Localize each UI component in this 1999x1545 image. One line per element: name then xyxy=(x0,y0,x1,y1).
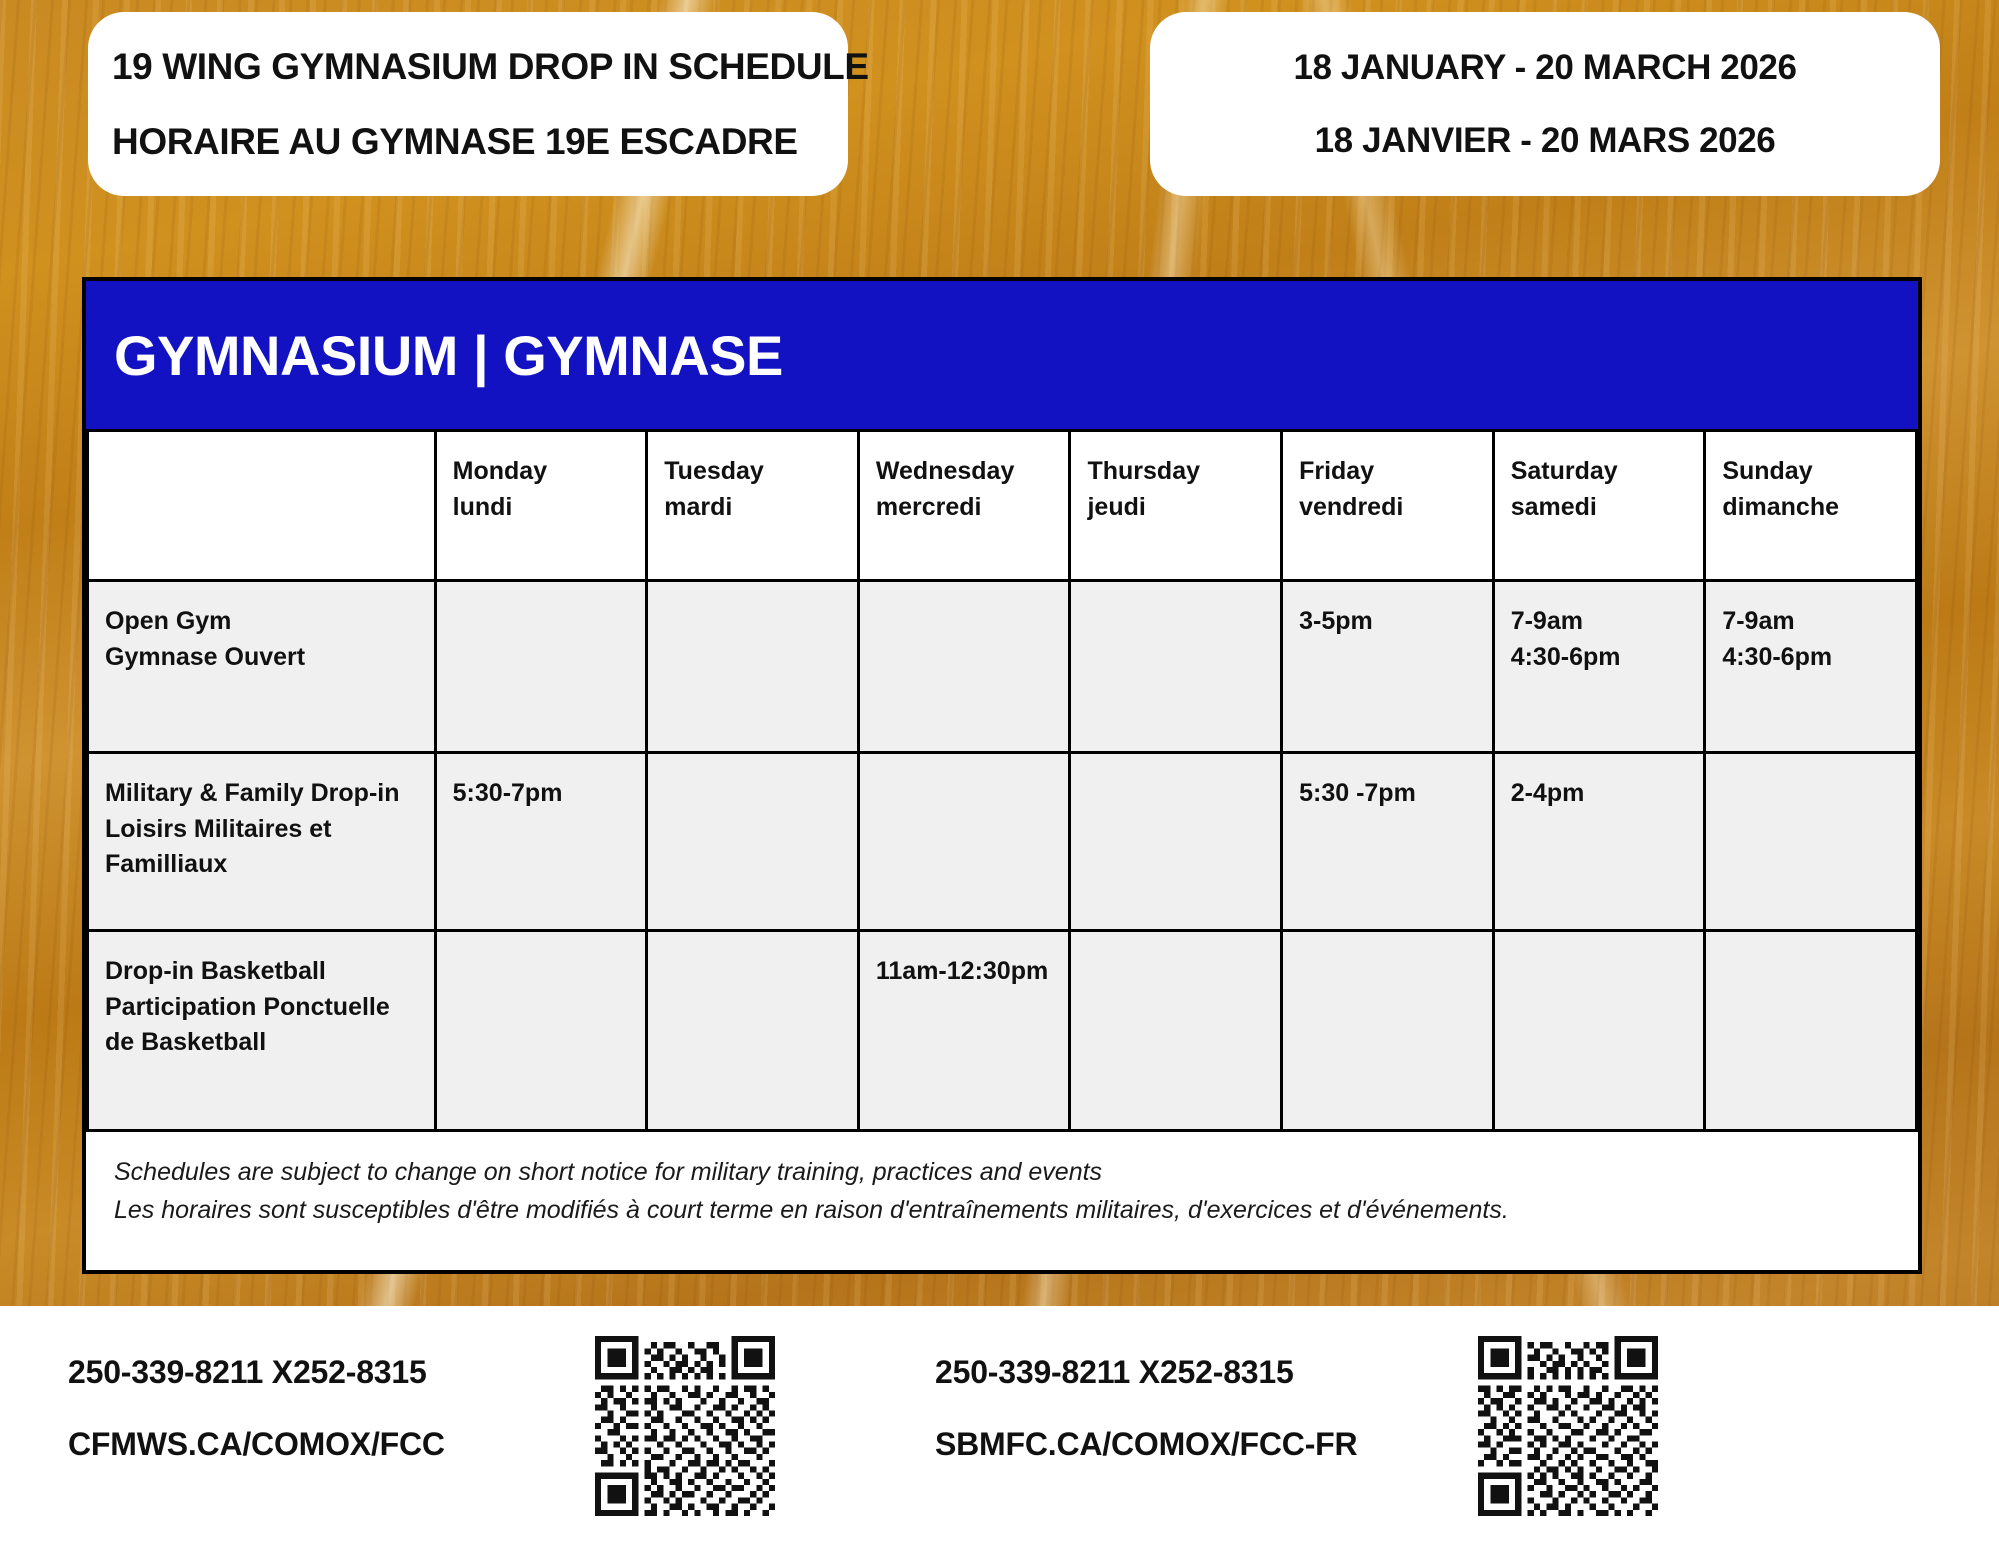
header-tuesday: Tuesday mardi xyxy=(647,431,859,581)
schedule-card: GYMNASIUM | GYMNASE Monday lundi Tuesday xyxy=(82,277,1922,1274)
cell-open-gym-saturday: 7-9am 4:30-6pm xyxy=(1493,581,1705,753)
activity-basketball-fr1: Participation Ponctuelle xyxy=(105,990,418,1026)
header-sunday: Sunday dimanche xyxy=(1705,431,1917,581)
activity-military-family-en: Military & Family Drop-in xyxy=(105,776,418,812)
row-activity-open-gym: Open Gym Gymnase Ouvert xyxy=(88,581,436,753)
cell-open-gym-saturday-line1: 7-9am xyxy=(1511,604,1688,640)
poster-title-fr: HORAIRE AU GYMNASE 19E ESCADRE xyxy=(112,123,826,160)
header-saturday-fr: samedi xyxy=(1511,490,1688,526)
cell-open-gym-friday: 3-5pm xyxy=(1282,581,1494,753)
cell-open-gym-sunday-line1: 7-9am xyxy=(1722,604,1899,640)
header-friday-en: Friday xyxy=(1299,454,1476,490)
section-banner: GYMNASIUM | GYMNASE xyxy=(86,281,1918,429)
table-row: Drop-in Basketball Participation Ponctue… xyxy=(88,931,1917,1131)
header-thursday-fr: jeudi xyxy=(1087,490,1264,526)
header-monday-en: Monday xyxy=(453,454,630,490)
header-wednesday-en: Wednesday xyxy=(876,454,1053,490)
header-friday-fr: vendredi xyxy=(1299,490,1476,526)
date-range-pill: 18 JANUARY - 20 MARCH 2026 18 JANVIER - … xyxy=(1150,12,1940,196)
cell-basketball-tuesday xyxy=(647,931,859,1131)
cell-basketball-sunday xyxy=(1705,931,1917,1131)
qr-code-icon-french[interactable] xyxy=(1478,1336,1658,1516)
header-tuesday-en: Tuesday xyxy=(664,454,841,490)
cell-basketball-friday xyxy=(1282,931,1494,1131)
poster-title-en: 19 WING GYMNASIUM DROP IN SCHEDULE xyxy=(112,48,826,85)
activity-open-gym-en: Open Gym xyxy=(105,604,418,640)
activity-basketball-en: Drop-in Basketball xyxy=(105,954,418,990)
section-banner-title: GYMNASIUM | GYMNASE xyxy=(114,323,783,388)
cell-open-gym-sunday: 7-9am 4:30-6pm xyxy=(1705,581,1917,753)
date-range-en: 18 JANUARY - 20 MARCH 2026 xyxy=(1293,50,1796,85)
contact-phone-en: 250-339-8211 X252-8315 xyxy=(68,1354,427,1391)
cell-basketball-wednesday: 11am-12:30pm xyxy=(858,931,1070,1131)
activity-basketball-fr2: de Basketball xyxy=(105,1025,418,1061)
header-saturday: Saturday samedi xyxy=(1493,431,1705,581)
activity-military-family-fr2: Familliaux xyxy=(105,847,418,883)
header-wednesday-fr: mercredi xyxy=(876,490,1053,526)
activity-military-family-fr1: Loisirs Militaires et xyxy=(105,812,418,848)
row-activity-dropin-basketball: Drop-in Basketball Participation Ponctue… xyxy=(88,931,436,1131)
contact-url-fr[interactable]: SBMFC.CA/COMOX/FCC-FR xyxy=(935,1426,1357,1463)
cell-military-family-thursday xyxy=(1070,753,1282,931)
cell-military-family-friday: 5:30 -7pm xyxy=(1282,753,1494,931)
schedule-disclaimer: Schedules are subject to change on short… xyxy=(86,1132,1918,1229)
header-tuesday-fr: mardi xyxy=(664,490,841,526)
date-range-fr: 18 JANVIER - 20 MARS 2026 xyxy=(1315,123,1776,158)
header-thursday-en: Thursday xyxy=(1087,454,1264,490)
cell-basketball-saturday xyxy=(1493,931,1705,1131)
disclaimer-en: Schedules are subject to change on short… xyxy=(114,1154,1918,1192)
header-sunday-en: Sunday xyxy=(1722,454,1899,490)
cell-open-gym-sunday-line2: 4:30-6pm xyxy=(1722,640,1899,676)
schedule-table: Monday lundi Tuesday mardi Wednesday mer… xyxy=(86,429,1918,1132)
cell-open-gym-wednesday xyxy=(858,581,1070,753)
header-wednesday: Wednesday mercredi xyxy=(858,431,1070,581)
header-monday-fr: lundi xyxy=(453,490,630,526)
cell-open-gym-tuesday xyxy=(647,581,859,753)
activity-open-gym-fr: Gymnase Ouvert xyxy=(105,640,418,676)
header-monday: Monday lundi xyxy=(435,431,647,581)
cell-military-family-wednesday xyxy=(858,753,1070,931)
cell-military-family-tuesday xyxy=(647,753,859,931)
contact-phone-fr: 250-339-8211 X252-8315 xyxy=(935,1354,1294,1391)
title-pill-english-french: 19 WING GYMNASIUM DROP IN SCHEDULE HORAI… xyxy=(88,12,848,196)
header-friday: Friday vendredi xyxy=(1282,431,1494,581)
table-row: Open Gym Gymnase Ouvert 3-5pm 7-9am 4:30… xyxy=(88,581,1917,753)
disclaimer-fr: Les horaires sont susceptibles d'être mo… xyxy=(114,1192,1918,1230)
cell-basketball-monday xyxy=(435,931,647,1131)
row-activity-military-family: Military & Family Drop-in Loisirs Milita… xyxy=(88,753,436,931)
cell-military-family-saturday: 2-4pm xyxy=(1493,753,1705,931)
table-header-row: Monday lundi Tuesday mardi Wednesday mer… xyxy=(88,431,1917,581)
cell-military-family-sunday xyxy=(1705,753,1917,931)
cell-open-gym-saturday-line2: 4:30-6pm xyxy=(1511,640,1688,676)
header-thursday: Thursday jeudi xyxy=(1070,431,1282,581)
header-corner-cell xyxy=(88,431,436,581)
cell-basketball-thursday xyxy=(1070,931,1282,1131)
table-row: Military & Family Drop-in Loisirs Milita… xyxy=(88,753,1917,931)
footer-bar: 250-339-8211 X252-8315 CFMWS.CA/COMOX/FC… xyxy=(0,1306,1999,1545)
cell-open-gym-monday xyxy=(435,581,647,753)
cell-open-gym-thursday xyxy=(1070,581,1282,753)
poster-canvas: 19 WING GYMNASIUM DROP IN SCHEDULE HORAI… xyxy=(0,0,1999,1545)
contact-url-en[interactable]: CFMWS.CA/COMOX/FCC xyxy=(68,1426,445,1463)
cell-military-family-monday: 5:30-7pm xyxy=(435,753,647,931)
header-sunday-fr: dimanche xyxy=(1722,490,1899,526)
qr-code-icon-english[interactable] xyxy=(595,1336,775,1516)
header-saturday-en: Saturday xyxy=(1511,454,1688,490)
